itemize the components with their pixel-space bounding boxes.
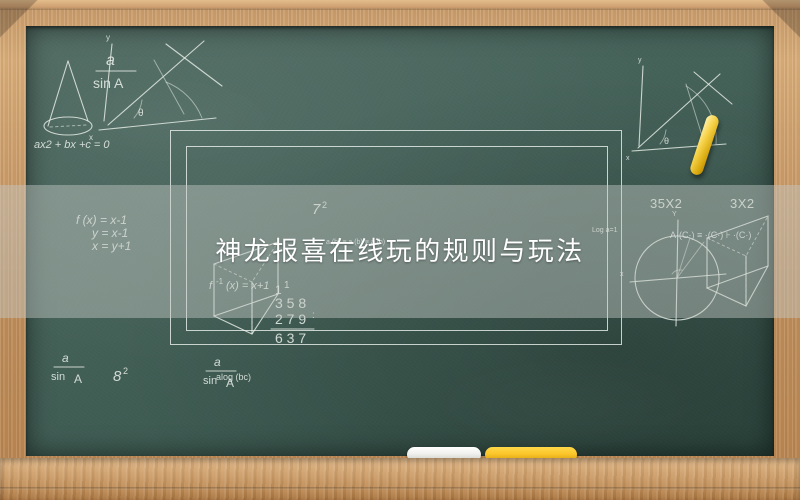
ledge-lip xyxy=(0,487,800,490)
svg-text:a: a xyxy=(62,351,69,365)
svg-text:8: 8 xyxy=(113,368,122,385)
svg-text:x: x xyxy=(89,133,93,142)
fraction-a-over-sinA-bottom-center: a sin A xyxy=(203,355,236,390)
svg-text:2: 2 xyxy=(123,366,128,376)
svg-text:sin: sin xyxy=(51,371,65,383)
svg-text:x: x xyxy=(626,155,630,162)
page-title: 神龙报喜在线玩的规则与玩法 xyxy=(215,239,584,265)
svg-text:a: a xyxy=(214,355,221,369)
svg-text:sin A: sin A xyxy=(93,75,124,91)
svg-text:y: y xyxy=(638,57,642,64)
svg-text:a: a xyxy=(106,52,115,69)
svg-text:θ: θ xyxy=(664,136,669,146)
svg-text:A: A xyxy=(74,372,82,386)
svg-text:y: y xyxy=(106,33,110,42)
angle-diagram-right-top: y x θ xyxy=(626,57,732,162)
svg-text:sin: sin xyxy=(203,375,217,387)
svg-text:A: A xyxy=(226,376,234,390)
yellow-chalk-stick-on-board xyxy=(689,114,721,177)
chalk-power-eight: 8 2 xyxy=(113,366,128,385)
fraction-a-over-sinA-left: a sin A xyxy=(93,52,136,91)
chalk-quadratic-equation: ax2 + bx +c = 0 xyxy=(34,139,110,151)
frame-top-highlight xyxy=(0,0,800,10)
chalk-tray-ledge xyxy=(0,458,800,500)
blackboard-wooden-frame: a sin A y x θ ax2 + bx +c = 0 xyxy=(0,0,800,500)
title-overlay-band: 神龙报喜在线玩的规则与玩法 xyxy=(0,185,800,318)
fraction-a-over-sinA-bottom-left: a sin A xyxy=(51,351,84,386)
angle-axes-diagram-left: y x θ xyxy=(89,33,222,142)
chalk-log-identity: alog (bc) xyxy=(216,372,251,382)
svg-text:θ: θ xyxy=(138,108,144,119)
cone-drawing xyxy=(44,61,92,135)
